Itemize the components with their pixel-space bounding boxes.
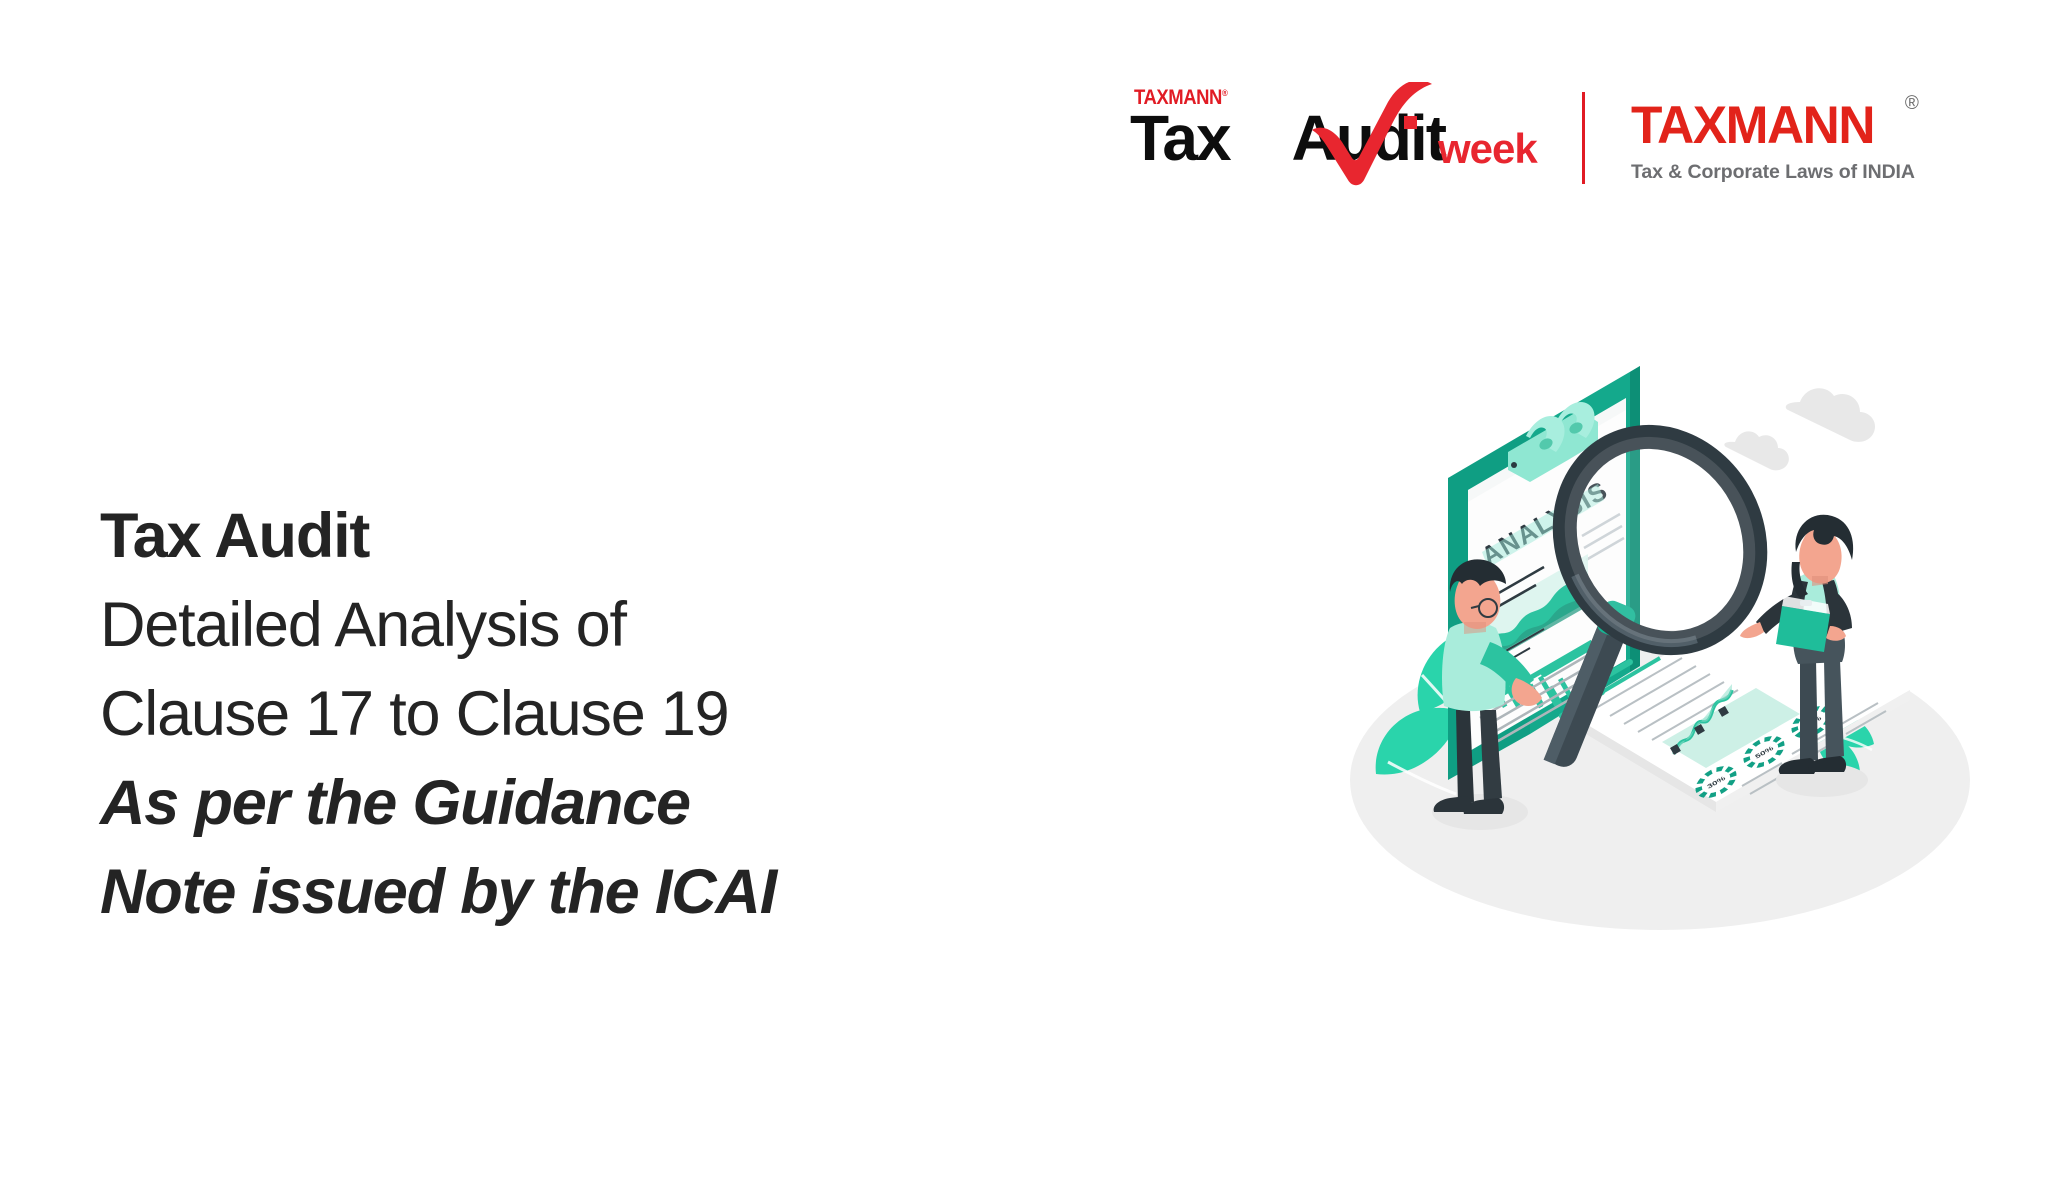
title-line-4: As per the Guidance bbox=[100, 759, 1080, 848]
title-line-2: Detailed Analysis of bbox=[100, 581, 1080, 670]
title-line-3: Clause 17 to Clause 19 bbox=[100, 670, 1080, 759]
title-line-5: Note issued by the ICAI bbox=[100, 848, 1080, 937]
taxmann-tagline: Tax & Corporate Laws of INDIA bbox=[1631, 161, 1915, 184]
title-line-1: Tax Audit bbox=[100, 492, 1080, 581]
event-logo-word-audit: Audit bbox=[1292, 102, 1446, 174]
analysis-scene-svg: ANALYSIS bbox=[1330, 330, 2030, 950]
man-neck bbox=[1464, 622, 1486, 634]
cloud-icon-large bbox=[1786, 388, 1875, 442]
woman-leg-back bbox=[1800, 660, 1818, 762]
logo-divider bbox=[1582, 92, 1585, 184]
cloud-icon-small bbox=[1724, 431, 1789, 470]
event-logo-wordmark: TaxAudit bbox=[1130, 106, 1445, 170]
event-logo-word-tax: Tax bbox=[1130, 102, 1230, 174]
event-logo-i-dot bbox=[1404, 116, 1417, 129]
slide-title-block: Tax Audit Detailed Analysis of Clause 17… bbox=[100, 492, 1080, 937]
registered-mark-icon: ® bbox=[1222, 88, 1227, 98]
taxmann-wordmark: TAXMANN bbox=[1631, 99, 1906, 152]
event-logo-word-week: week bbox=[1438, 128, 1537, 170]
registered-mark-icon: ® bbox=[1905, 93, 1919, 115]
tax-audit-week-logo: TAXMANN® TaxAudit week bbox=[1120, 78, 1560, 198]
branding-header: TAXMANN® TaxAudit week TAXMANN ® Tax & C… bbox=[1120, 78, 1950, 198]
woman-clipboard bbox=[1776, 596, 1830, 652]
taxmann-company-logo: TAXMANN ® Tax & Corporate Laws of INDIA bbox=[1631, 93, 1915, 184]
slide-root: TAXMANN® TaxAudit week TAXMANN ® Tax & C… bbox=[0, 0, 2048, 1201]
data-analysis-illustration: ANALYSIS bbox=[1330, 330, 2030, 950]
